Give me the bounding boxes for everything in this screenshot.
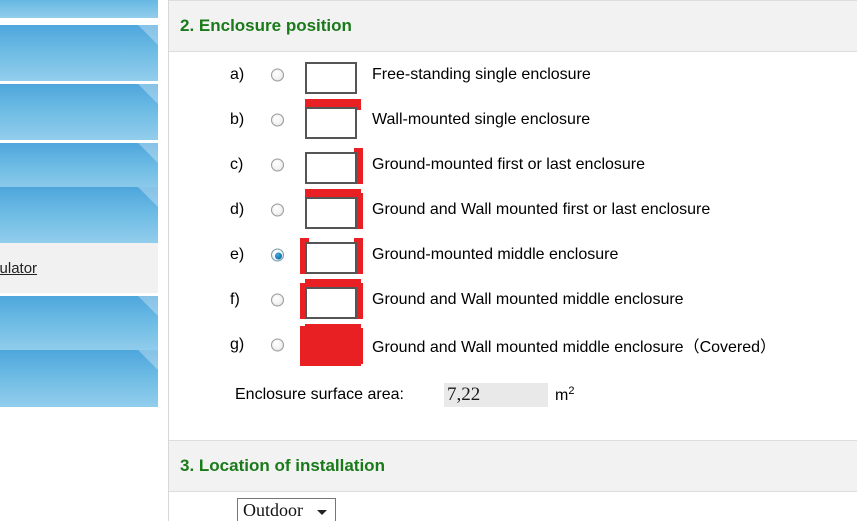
enclosure-body — [305, 287, 357, 319]
sidebar-item-2[interactable]: t — [0, 84, 158, 140]
enclosure-option-row[interactable]: c)Ground-mounted first or last enclosure — [169, 142, 857, 187]
sidebar-item-1[interactable]: ad — [0, 25, 158, 81]
enclosure-red-full — [300, 326, 361, 366]
option-radio-g[interactable] — [271, 338, 284, 351]
option-radio-c[interactable] — [271, 158, 284, 171]
enclosure-body — [305, 62, 357, 94]
option-letter: a) — [230, 66, 252, 84]
option-radio-b[interactable] — [271, 113, 284, 126]
enclosure-body — [305, 197, 357, 229]
enclosure-option-row[interactable]: a)Free-standing single enclosure — [169, 52, 857, 97]
enclosure-option-row[interactable]: d)Ground and Wall mounted first or last … — [169, 187, 857, 232]
enclosure-diagram-icon — [297, 234, 365, 276]
enclosure-body — [305, 152, 357, 184]
enclosure-diagram-icon — [297, 99, 365, 141]
option-radio-a[interactable] — [271, 68, 284, 81]
option-letter: c) — [230, 156, 252, 174]
option-label: Free-standing single enclosure — [372, 66, 591, 84]
enclosure-diagram-icon — [297, 189, 365, 231]
sidebar-item-5[interactable]: on calculator — [0, 243, 158, 293]
section-header-location-of-installation: 3. Location of installation — [169, 440, 857, 492]
corner-fold-icon — [138, 350, 158, 370]
sidebar-item-0[interactable]: s — [0, 0, 158, 18]
sidebar-link-label[interactable]: on calculator — [0, 260, 37, 277]
enclosure-diagram-icon — [297, 54, 365, 96]
enclosure-option-row[interactable]: b)Wall-mounted single enclosure — [169, 97, 857, 142]
option-label: Ground and Wall mounted first or last en… — [372, 201, 710, 219]
section-header-enclosure-position: 2. Enclosure position — [169, 0, 857, 52]
option-radio-f[interactable] — [271, 293, 284, 306]
enclosure-body — [305, 242, 357, 274]
corner-fold-icon — [138, 143, 158, 163]
surface-area-label: Enclosure surface area: — [235, 386, 404, 404]
option-label: Ground and Wall mounted middle enclosure — [372, 291, 684, 309]
enclosure-body — [305, 107, 357, 139]
sidebar-item-3[interactable] — [0, 143, 158, 193]
surface-area-input[interactable] — [444, 383, 548, 407]
section-title: 2. Enclosure position — [180, 16, 352, 36]
enclosure-diagram-icon — [297, 324, 365, 366]
corner-fold-icon — [138, 84, 158, 104]
corner-fold-icon — [138, 187, 158, 207]
page-root: sadtRtoron calculatorst us 2. Enclosure … — [0, 0, 857, 521]
unit-base: m — [555, 387, 568, 404]
enclosure-option-row[interactable]: e)Ground-mounted middle enclosure — [169, 232, 857, 277]
option-letter: d) — [230, 201, 252, 219]
location-selected-value: Outdoor — [243, 500, 303, 520]
option-letter: g) — [230, 336, 252, 354]
option-letter: b) — [230, 111, 252, 129]
option-label: Ground and Wall mounted middle enclosure… — [372, 333, 776, 357]
corner-fold-icon — [138, 25, 158, 45]
location-of-installation-select[interactable]: Outdoor — [237, 498, 336, 521]
chevron-down-icon — [317, 510, 327, 515]
section-title: 3. Location of installation — [180, 456, 385, 476]
option-label: Ground-mounted middle enclosure — [372, 246, 618, 264]
sidebar-item-6[interactable] — [0, 296, 158, 352]
option-letter: e) — [230, 246, 252, 264]
sidebar-item-4[interactable]: Rtor — [0, 187, 158, 244]
corner-fold-icon — [138, 296, 158, 316]
option-label: Wall-mounted single enclosure — [372, 111, 590, 129]
enclosure-option-row[interactable]: g)Ground and Wall mounted middle enclosu… — [169, 322, 857, 367]
option-letter: f) — [230, 291, 252, 309]
option-radio-d[interactable] — [271, 203, 284, 216]
surface-area-unit: m2 — [555, 385, 574, 405]
enclosure-diagram-icon — [297, 144, 365, 186]
unit-exponent: 2 — [568, 385, 574, 397]
option-label: Ground-mounted first or last enclosure — [372, 156, 645, 174]
enclosure-surface-area-row: Enclosure surface area: m2 — [169, 378, 857, 412]
sidebar-item-7[interactable]: st us — [0, 350, 158, 407]
option-radio-e[interactable] — [271, 248, 284, 261]
enclosure-diagram-icon — [297, 279, 365, 321]
enclosure-option-row[interactable]: f)Ground and Wall mounted middle enclosu… — [169, 277, 857, 322]
main-content: 2. Enclosure position a)Free-standing si… — [168, 0, 857, 521]
sidebar: sadtRtoron calculatorst us — [0, 0, 158, 521]
